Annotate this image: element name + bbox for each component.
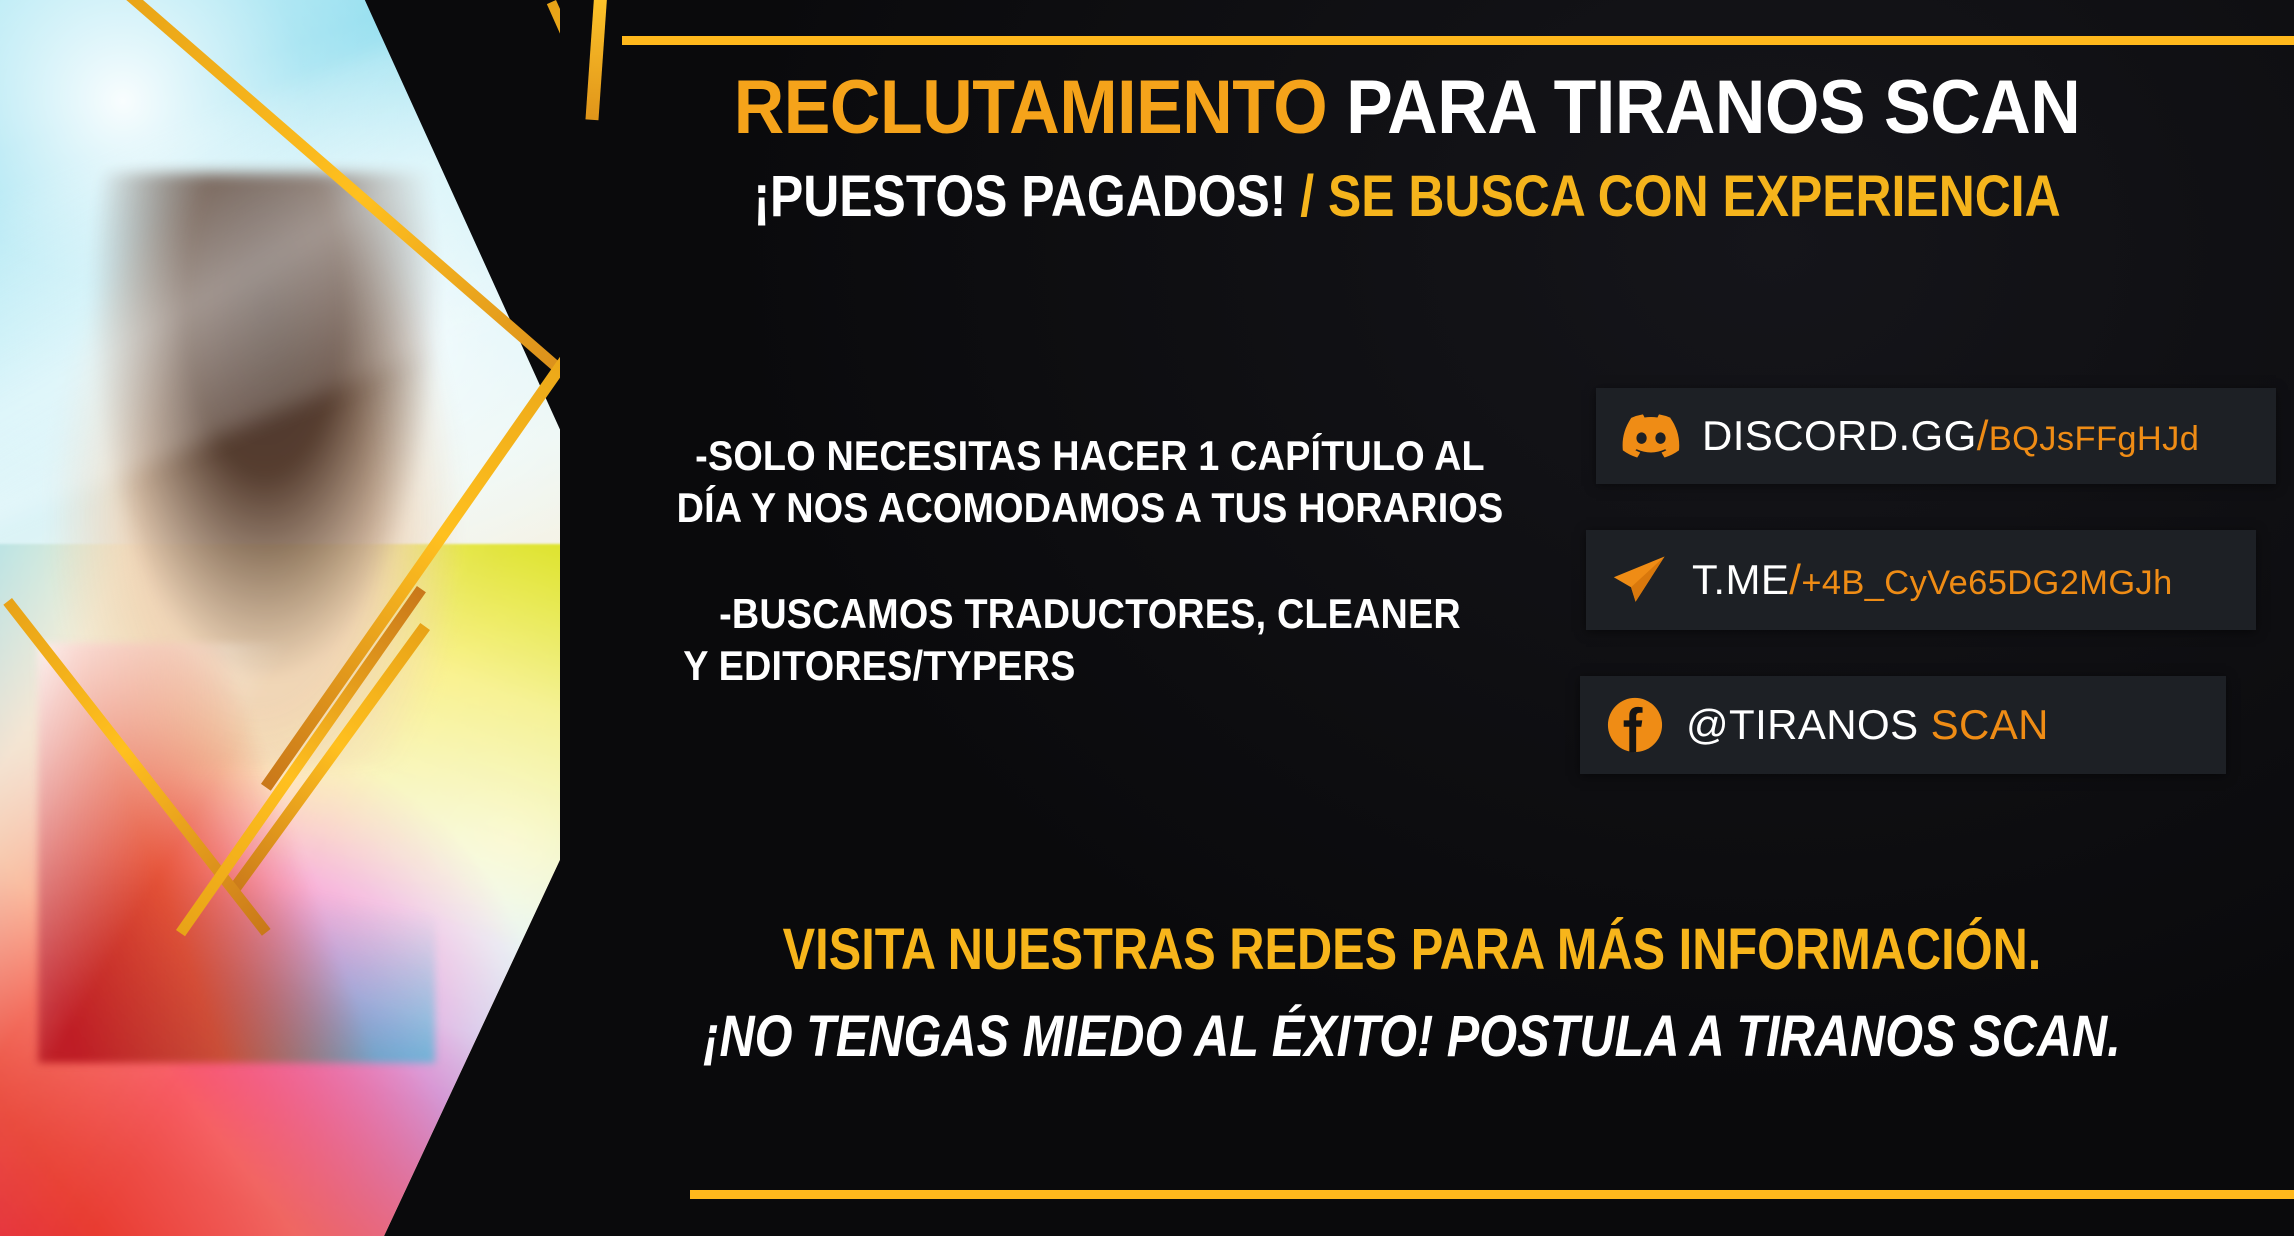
bullet-line: Y EDITORES/TYPERS	[667, 640, 1513, 692]
requirements-list: -SOLO NECESITAS HACER 1 CAPÍTULO AL DÍA …	[620, 430, 1560, 746]
page-subtitle: ¡PUESTOS PAGADOS! / SE BUSCA CON EXPERIE…	[679, 168, 2136, 226]
cta-line-primary: VISITA NUESTRAS REDES PARA MÁS INFORMACI…	[696, 920, 2127, 981]
discord-domain: DISCORD.GG	[1702, 412, 1977, 459]
artwork-panel	[0, 0, 640, 1236]
bullet-line: -SOLO NECESITAS HACER 1 CAPÍTULO AL	[667, 430, 1513, 482]
bullet-line: -BUSCAMOS TRADUCTORES, CLEANER	[667, 588, 1513, 640]
telegram-invite-code: +4B_CyVe65DG2MGJh	[1801, 564, 2172, 602]
page-subtitle-paid: ¡PUESTOS PAGADOS!	[753, 164, 1286, 229]
gold-rule-bottom	[690, 1190, 2294, 1199]
facebook-separator	[1919, 701, 1931, 748]
contact-card-telegram[interactable]: T.ME/+4B_CyVe65DG2MGJh	[1586, 530, 2256, 630]
cta-line-secondary: ¡NO TENGAS MIEDO AL ÉXITO! POSTULA A TIR…	[696, 1007, 2127, 1068]
page-title-highlight: RECLUTAMIENTO	[734, 65, 1328, 150]
gold-rule-top	[622, 36, 2294, 45]
artwork-clip	[0, 0, 640, 1236]
page-subtitle-experience: / SE BUSCA CON EXPERIENCIA	[1286, 164, 2060, 229]
list-item: -BUSCAMOS TRADUCTORES, CLEANER Y EDITORE…	[667, 588, 1513, 692]
contact-card-discord[interactable]: DISCORD.GG/BQJsFFgHJd	[1596, 388, 2276, 484]
page-title-rest: PARA TIRANOS SCAN	[1327, 65, 2080, 150]
bullet-line: DÍA Y NOS ACOMODAMOS A TUS HORARIOS	[667, 482, 1513, 534]
contact-card-label: @TIRANOS SCAN	[1686, 701, 2049, 749]
facebook-icon	[1606, 696, 1664, 754]
contact-card-label: T.ME/+4B_CyVe65DG2MGJh	[1692, 556, 2173, 604]
contact-card-label: DISCORD.GG/BQJsFFgHJd	[1702, 412, 2199, 460]
page-title: RECLUTAMIENTO PARA TIRANOS SCAN	[628, 70, 2186, 146]
contact-links: DISCORD.GG/BQJsFFgHJd T.ME/+4B_CyVe65DG2…	[1580, 388, 2240, 820]
discord-icon	[1622, 407, 1680, 465]
list-item: -SOLO NECESITAS HACER 1 CAPÍTULO AL DÍA …	[667, 430, 1513, 534]
facebook-scan-label: SCAN	[1931, 701, 2049, 748]
call-to-action: VISITA NUESTRAS REDES PARA MÁS INFORMACI…	[560, 920, 2264, 1068]
contact-card-facebook[interactable]: @TIRANOS SCAN	[1580, 676, 2226, 774]
telegram-domain: T.ME	[1692, 556, 1789, 603]
telegram-icon	[1612, 551, 1670, 609]
telegram-separator: /	[1789, 556, 1801, 603]
content-panel: RECLUTAMIENTO PARA TIRANOS SCAN ¡PUESTOS…	[560, 0, 2294, 1236]
facebook-handle: @TIRANOS	[1686, 701, 1919, 748]
gold-accent-bar	[585, 0, 607, 120]
discord-invite-code: BQJsFFgHJd	[1989, 420, 2200, 458]
discord-separator: /	[1977, 412, 1989, 459]
recruitment-banner: RECLUTAMIENTO PARA TIRANOS SCAN ¡PUESTOS…	[0, 0, 2294, 1236]
